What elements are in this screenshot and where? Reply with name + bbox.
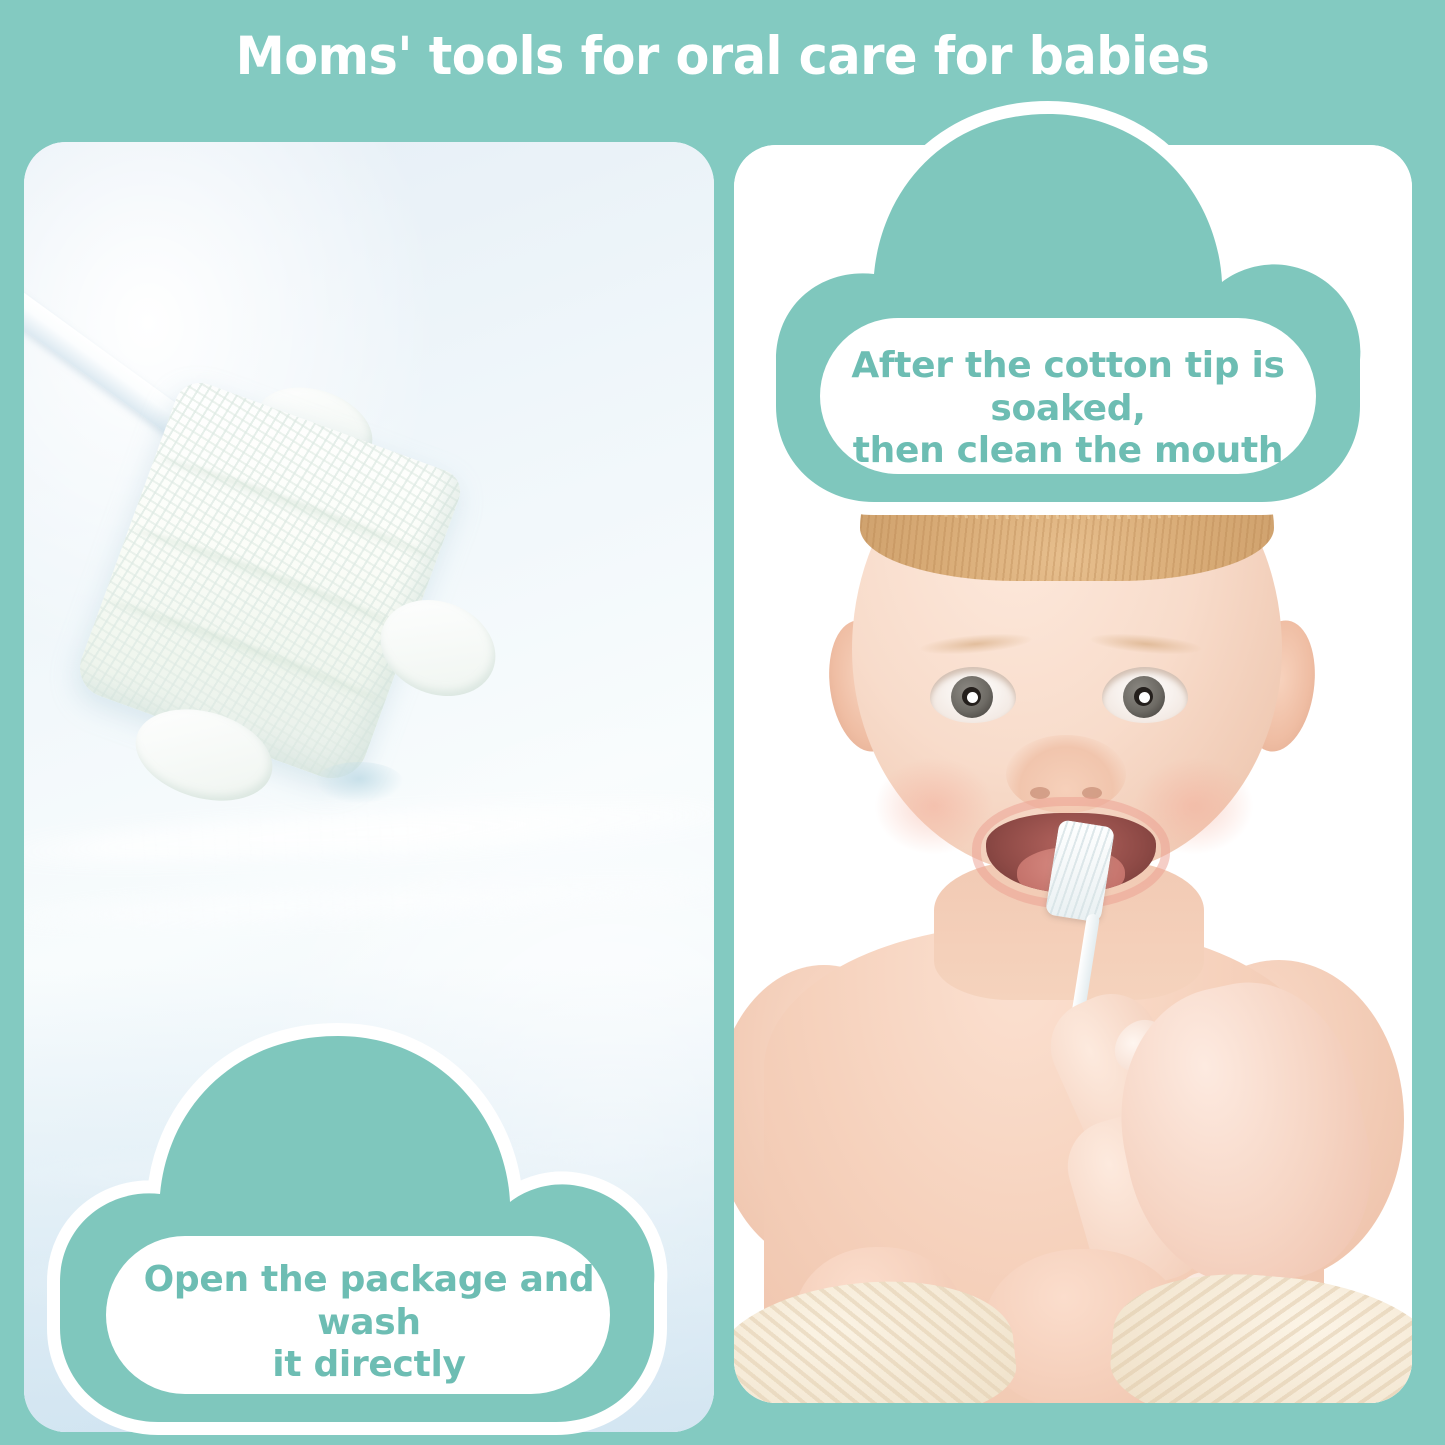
baby-eye-glint xyxy=(967,692,978,703)
callout-cloud-top-right: After the cotton tip is soaked, then cle… xyxy=(748,106,1388,510)
gauze-head xyxy=(72,376,467,789)
baby-figure xyxy=(734,405,1412,1403)
baby-pupil-right xyxy=(1134,687,1153,706)
baby-pupil-left xyxy=(962,687,981,706)
baby-iris-right xyxy=(1123,676,1165,718)
page-title-bar: Moms' tools for oral care for babies xyxy=(0,0,1445,112)
cotton-swab-icon xyxy=(24,242,634,922)
baby-eye-left xyxy=(930,667,1016,723)
callout-text-top-right: After the cotton tip is soaked, then cle… xyxy=(798,334,1338,484)
gauze-ridge xyxy=(106,595,381,707)
page-title: Moms' tools for oral care for babies xyxy=(236,30,1210,83)
callout-text-bottom-left: Open the package and wash it directly xyxy=(93,1248,645,1398)
callout-cloud-bottom-left: Open the package and wash it directly xyxy=(38,1028,700,1428)
swab-tip-highlight xyxy=(314,762,404,804)
callout-line-1: After the cotton tip is soaked, xyxy=(851,345,1284,428)
callout-line-2: then clean the mouth xyxy=(853,430,1283,471)
baby-eye-right xyxy=(1102,667,1188,723)
baby-iris-left xyxy=(951,676,993,718)
baby-eye-glint xyxy=(1139,692,1150,703)
callout-line-2: it directly xyxy=(272,1344,465,1385)
infographic-page: Moms' tools for oral care for babies xyxy=(0,0,1445,1445)
callout-line-1: Open the package and wash xyxy=(144,1259,595,1342)
